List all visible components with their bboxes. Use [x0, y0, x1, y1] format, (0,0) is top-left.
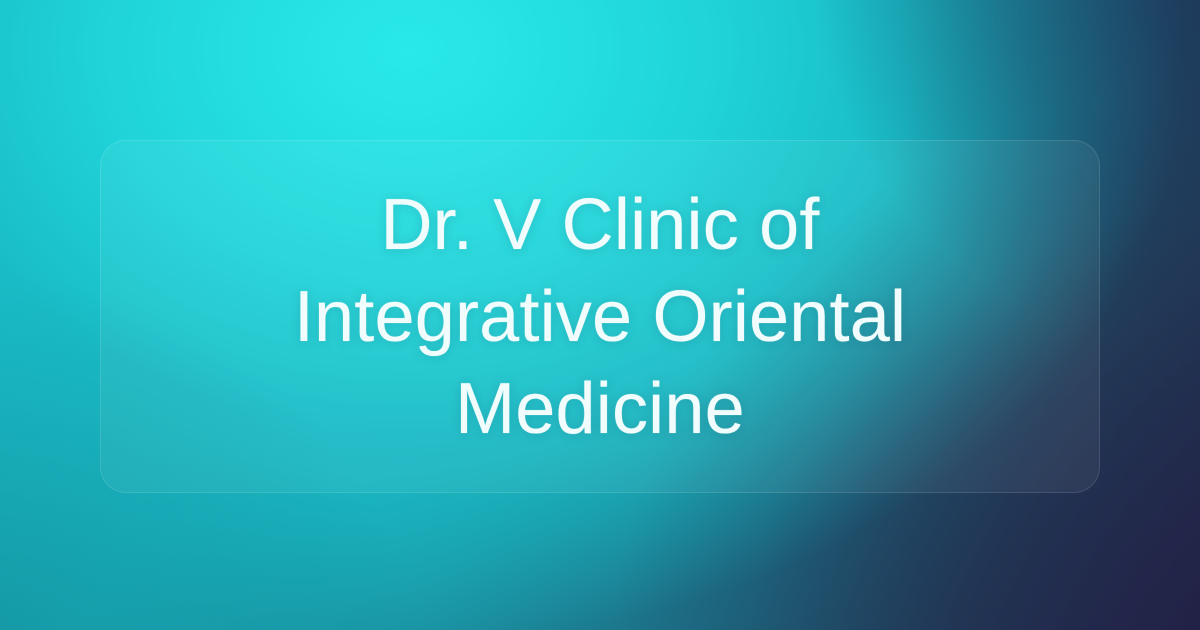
social-preview-canvas: Dr. V Clinic of Integrative Oriental Med…	[0, 0, 1200, 630]
page-title: Dr. V Clinic of Integrative Oriental Med…	[294, 179, 906, 455]
title-card: Dr. V Clinic of Integrative Oriental Med…	[100, 140, 1100, 493]
